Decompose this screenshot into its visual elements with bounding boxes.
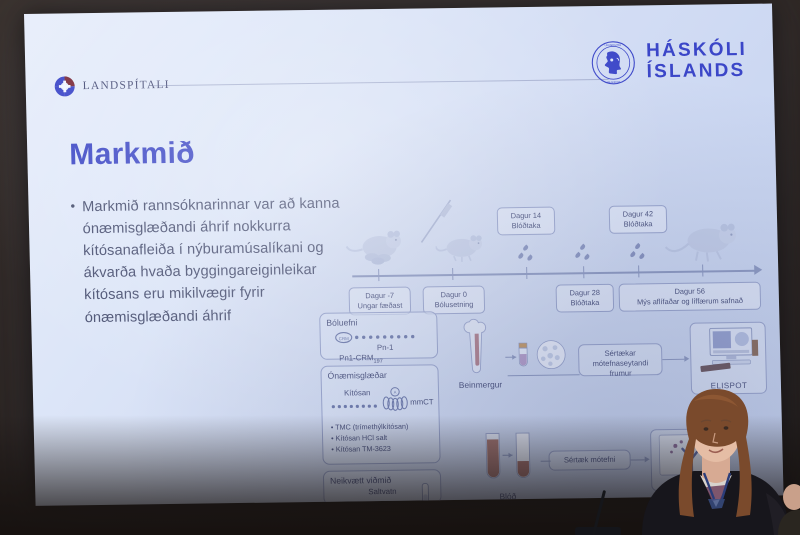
timeline-box-day-28: Dagur 28 Blóðtaka bbox=[556, 284, 615, 312]
syringe-needle-icon bbox=[414, 198, 455, 252]
mouse-with-pups-illustration bbox=[345, 223, 408, 277]
timeline-box-day-14-label: Blóðtaka bbox=[502, 220, 550, 230]
elispot-computer-icon bbox=[696, 326, 763, 379]
bullet-dot-icon: • bbox=[70, 196, 78, 329]
chitosan-chain-icon bbox=[330, 402, 382, 411]
bone-marrow-label: Beinmergur bbox=[459, 379, 503, 390]
timeline-tick-day-minus7 bbox=[378, 269, 380, 281]
vaccine-panel: Bóluefni CRM Pn-1 Pn1-CRM197 bbox=[319, 311, 438, 360]
university-of-iceland-logo: UNIVERSITAS ISLANDIAE HÁSKÓLI ÍSLANDS bbox=[590, 38, 748, 86]
university-wordmark-line2: ÍSLANDS bbox=[646, 61, 747, 83]
timeline-box-day-28-label: Blóðtaka bbox=[561, 298, 609, 308]
svg-text:CRM: CRM bbox=[339, 336, 349, 341]
mmct-pentamer-icon: A bbox=[382, 386, 409, 416]
photo-scene: LANDSPÍTALI UNIVERSITAS ISLANDIAE bbox=[0, 0, 800, 535]
slide-title: Markmið bbox=[69, 137, 195, 173]
slide-bullet-list: • Markmið rannsóknarinnar var að kanna ó… bbox=[70, 193, 345, 329]
background-person bbox=[774, 483, 800, 535]
bullet-item: • Markmið rannsóknarinnar var að kanna ó… bbox=[70, 193, 345, 329]
vaccine-item-label: Pn-1 bbox=[377, 343, 394, 352]
vaccine-item-sub-text: Pn1-CRM bbox=[339, 353, 373, 362]
timeline-box-day-42-label: Blóðtaka bbox=[614, 219, 662, 229]
presenter-person bbox=[616, 375, 800, 535]
blood-drop-icon-group-day14 bbox=[518, 245, 536, 265]
timeline-box-day-0-label: Bólusetning bbox=[428, 299, 480, 309]
bone-marrow-output-pill: Sértækar mótefnaseytandi frumur bbox=[578, 343, 663, 376]
timeline-box-day-56: Dagur 56 Mýs aflífaðar og líffærum safna… bbox=[619, 282, 762, 312]
adjuvant-secondary-label: mmCT bbox=[410, 397, 434, 406]
vaccine-item-sub-subscript: 197 bbox=[373, 359, 382, 365]
university-wordmark: HÁSKÓLI ÍSLANDS bbox=[646, 40, 748, 82]
landspitali-logo: LANDSPÍTALI bbox=[53, 74, 170, 98]
timeline-box-day-42: Dagur 42 Blóðtaka bbox=[609, 205, 668, 233]
timeline-box-day-56-label: Mýs aflífaðar og líffærum safnað bbox=[624, 296, 756, 308]
svg-text:UNIVERSITAS: UNIVERSITAS bbox=[605, 44, 622, 47]
bone-marrow-illustration bbox=[461, 317, 497, 384]
bullet-item-text: Markmið rannsóknarinnar var að kanna ónæ… bbox=[82, 193, 346, 329]
header-divider-rule bbox=[154, 79, 609, 86]
microphone-base bbox=[575, 527, 621, 535]
timeline-box-day-0: Dagur 0 Bólusetning bbox=[423, 286, 486, 314]
landspitali-cross-icon bbox=[53, 75, 76, 97]
timeline-tick-day-42 bbox=[638, 265, 640, 277]
adjuvant-primary-label: Kítósan bbox=[344, 388, 371, 397]
timeline-tick-day-14 bbox=[526, 267, 528, 279]
vaccine-item-sub: Pn1-CRM197 bbox=[339, 353, 383, 365]
timeline-box-day-minus7-label: Ungar fæðast bbox=[354, 300, 406, 310]
svg-text:ISLANDIAE: ISLANDIAE bbox=[607, 81, 620, 84]
timeline-arrowhead-icon bbox=[754, 265, 762, 275]
adult-mouse-illustration bbox=[664, 218, 741, 276]
university-wordmark-line1: HÁSKÓLI bbox=[646, 40, 747, 62]
timeline-tick-day-28 bbox=[583, 266, 585, 278]
university-seal-icon: UNIVERSITAS ISLANDIAE bbox=[590, 39, 637, 86]
timeline-box-day-14: Dagur 14 Blóðtaka bbox=[497, 207, 556, 235]
elispot-connector-arrow-icon bbox=[684, 355, 689, 361]
blood-drop-icon-group-day28 bbox=[575, 244, 593, 264]
timeline-tick-day-0 bbox=[452, 268, 454, 280]
svg-text:A: A bbox=[394, 390, 397, 395]
blood-drop-icon-group-day42 bbox=[630, 243, 648, 263]
